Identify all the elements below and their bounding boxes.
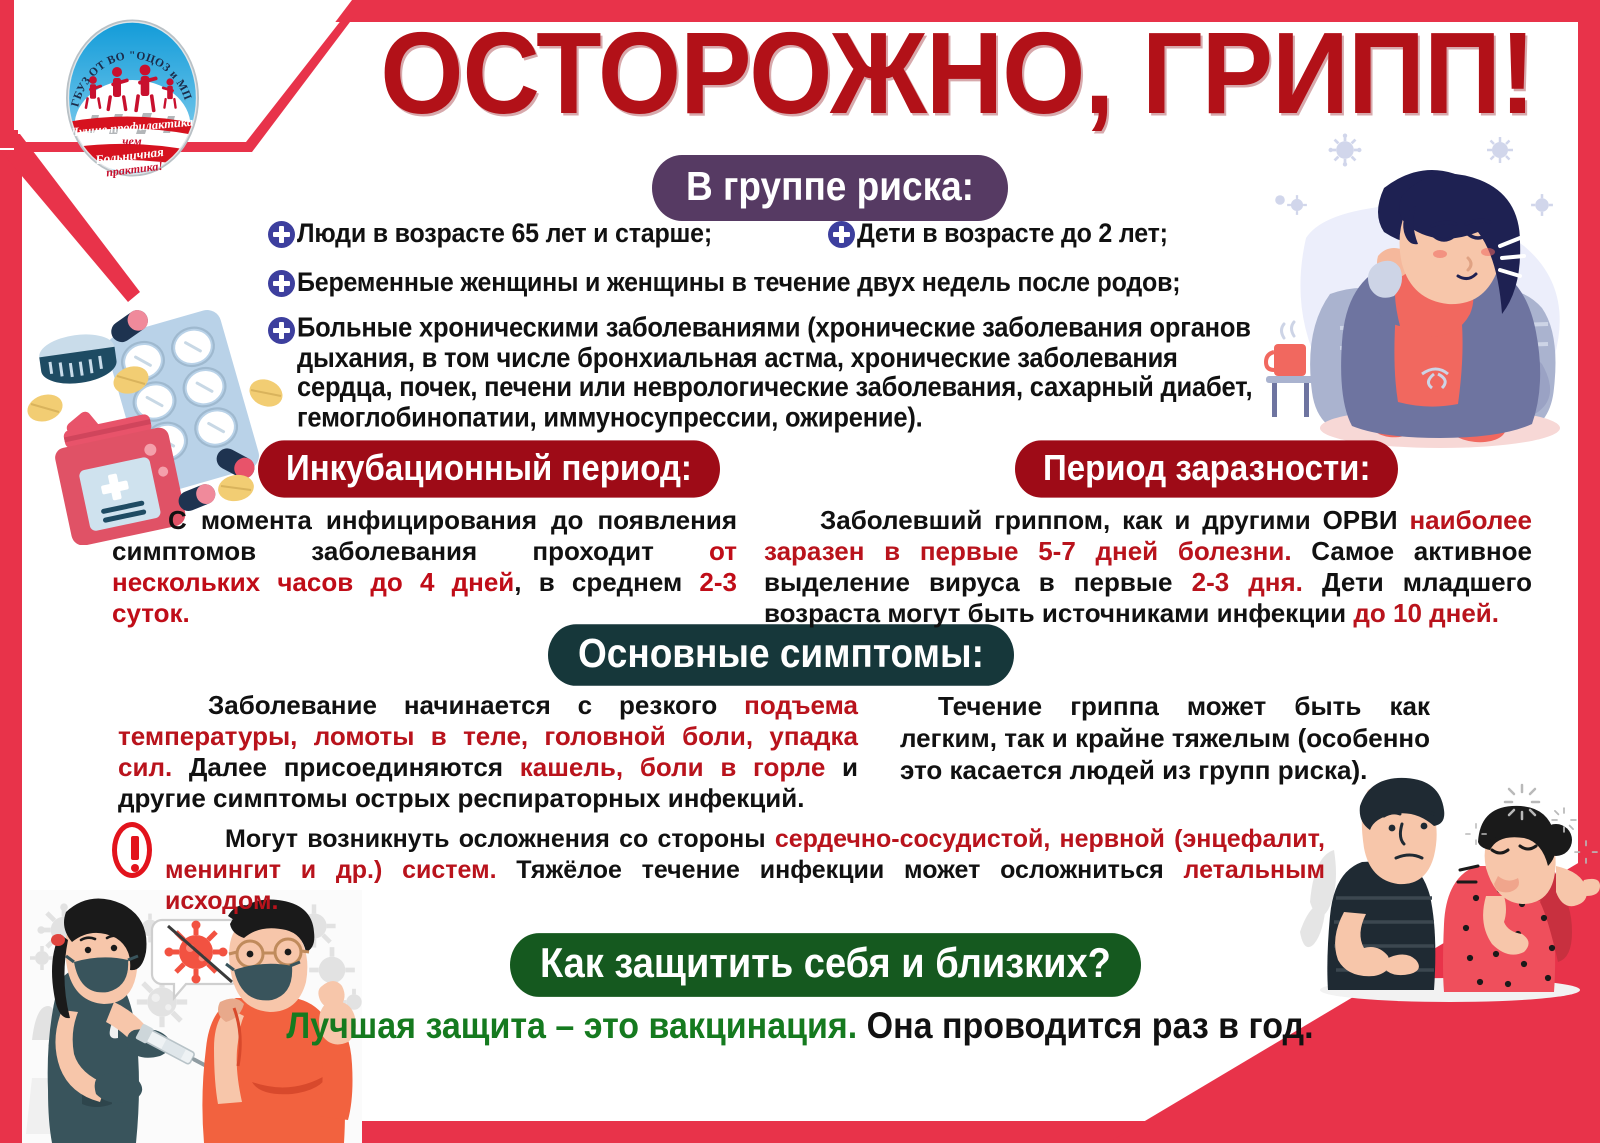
heading-risk-group: В группе риска: bbox=[652, 155, 1008, 221]
heading-protect-text: Как защитить себя и близких? bbox=[540, 941, 1111, 987]
heading-incubation-text: Инкубационный период: bbox=[286, 448, 692, 488]
heading-incubation-period: Инкубационный период: bbox=[258, 440, 720, 497]
heading-main-symptoms: Основные симптомы: bbox=[548, 624, 1014, 686]
heading-how-to-protect: Как защитить себя и близких? bbox=[510, 933, 1141, 997]
symptoms-r2: кашель, боли в горле bbox=[520, 752, 826, 782]
medical-cross-icon bbox=[268, 317, 295, 344]
contagious-r2: 2-3 дня. bbox=[1192, 567, 1303, 597]
medical-cross-icon bbox=[268, 221, 295, 248]
contagious-t1: Заболевший гриппом, как и другими ОРВИ bbox=[820, 505, 1409, 535]
symptoms-t2: Далее присоединяются bbox=[172, 752, 520, 782]
poster-title: ОСТОРОЖНО, ГРИПП! bbox=[352, 18, 1562, 130]
complications-t1: Могут возникнуть осложнения со стороны bbox=[225, 825, 775, 853]
risk-bullet-pregnant-text: Беременные женщины и женщины в течение д… bbox=[297, 267, 1180, 298]
symptoms-t1: Заболевание начинается с резкого bbox=[208, 690, 744, 720]
incubation-t1: С момента инфицирования до появления сим… bbox=[112, 505, 737, 566]
medical-cross-icon bbox=[268, 270, 295, 297]
risk-bullet-pregnant: Беременные женщины и женщины в течение д… bbox=[268, 267, 1180, 297]
symptoms-left-paragraph: Заболевание начинается с резкого подъема… bbox=[118, 690, 858, 814]
poster-title-text: ОСТОРОЖНО, ГРИПП! bbox=[380, 16, 1534, 132]
medical-cross-icon bbox=[828, 221, 855, 248]
heading-risk-group-text: В группе риска: bbox=[686, 165, 974, 209]
complications-t2: Тяжёлое течение инфекции может осложнить… bbox=[497, 856, 1184, 884]
incubation-t2: , в среднем bbox=[514, 567, 699, 597]
risk-bullet-chronic: Больные хроническими заболеваниями (хрон… bbox=[268, 314, 1258, 424]
contagious-r3: до 10 дней. bbox=[1353, 598, 1499, 628]
complications-paragraph: Могут возникнуть осложнения со стороны с… bbox=[165, 824, 1325, 917]
coughing-couple-illustration bbox=[1300, 762, 1600, 1012]
heading-contagious-period: Период заразности: bbox=[1015, 440, 1398, 497]
organization-logo: ГБУЗ ОТ ВО "ОЦОЗ и МП" Лучше профилактик… bbox=[57, 18, 208, 178]
risk-bullet-elderly: Люди в возрасте 65 лет и старше; bbox=[268, 218, 828, 248]
risk-bullet-chronic-text: Больные хроническими заболеваниями (хрон… bbox=[297, 314, 1258, 433]
vaccination-callout-black: Она проводится раз в год. bbox=[857, 1005, 1313, 1046]
vaccination-callout-green: Лучшая защита – это вакцинация. bbox=[286, 1005, 857, 1046]
risk-row-2: Беременные женщины и женщины в течение д… bbox=[268, 267, 1278, 297]
sick-woman-illustration bbox=[1262, 128, 1600, 458]
risk-bullet-children: Дети в возрасте до 2 лет; bbox=[828, 218, 1168, 248]
vaccination-callout: Лучшая защита – это вакцинация. Она пров… bbox=[0, 1004, 1600, 1047]
heading-symptoms-text: Основные симптомы: bbox=[578, 632, 984, 676]
risk-group-bullets: Люди в возрасте 65 лет и старше; Дети в … bbox=[268, 218, 1278, 316]
symptoms-right-paragraph: Течение гриппа может быть как легким, та… bbox=[900, 690, 1430, 786]
risk-row-1: Люди в возрасте 65 лет и старше; Дети в … bbox=[268, 218, 1278, 248]
exclamation-warning-icon bbox=[112, 822, 152, 878]
incubation-paragraph: С момента инфицирования до появления сим… bbox=[112, 505, 737, 629]
contagious-paragraph: Заболевший гриппом, как и другими ОРВИ н… bbox=[764, 505, 1532, 629]
risk-bullet-elderly-text: Люди в возрасте 65 лет и старше; bbox=[297, 218, 712, 249]
heading-contagious-text: Период заразности: bbox=[1043, 448, 1370, 488]
risk-bullet-children-text: Дети в возрасте до 2 лет; bbox=[857, 218, 1168, 249]
